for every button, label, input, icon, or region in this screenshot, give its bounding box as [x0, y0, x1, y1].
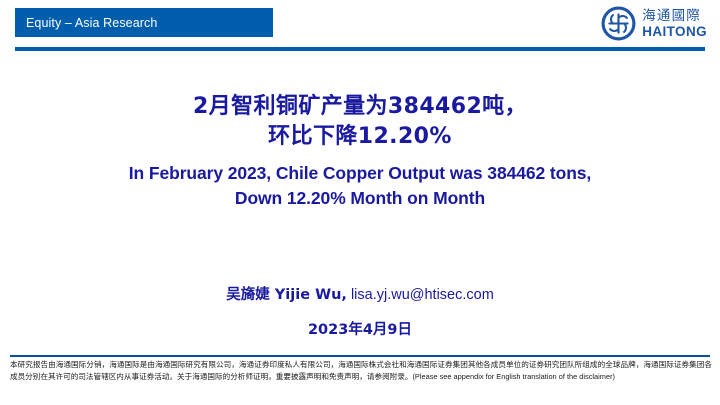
- haitong-emblem-icon: [601, 6, 636, 41]
- logo-wordmark-en: HAITONG: [642, 25, 707, 39]
- title-english: In February 2023, Chile Copper Output wa…: [0, 161, 720, 212]
- disclaimer-english: (Please see appendix for English transla…: [412, 372, 615, 381]
- title-chinese: 2月智利铜矿产量为384462吨， 环比下降12.20%: [0, 92, 720, 153]
- brand-logo: 海通國際 HAITONG: [601, 6, 707, 41]
- header-divider-rule: [15, 47, 705, 51]
- title-english-line-1: In February 2023, Chile Copper Output wa…: [0, 161, 720, 186]
- report-cover-slide: Equity – Asia Research 海通國際 HAITONG: [0, 0, 720, 405]
- header-banner-label: Equity – Asia Research: [26, 16, 157, 30]
- author-line: 吴旖婕 Yijie Wu, lisa.yj.wu@htisec.com: [0, 283, 720, 304]
- title-chinese-line-2: 环比下降12.20%: [0, 122, 720, 152]
- logo-wordmark: 海通國際 HAITONG: [642, 9, 707, 38]
- title-chinese-line-1: 2月智利铜矿产量为384462吨，: [0, 92, 720, 122]
- author-name-en: Yijie Wu,: [275, 287, 347, 303]
- title-zone: 2月智利铜矿产量为384462吨， 环比下降12.20% In February…: [0, 92, 720, 211]
- logo-wordmark-cn: 海通國際: [642, 9, 707, 23]
- footer-divider-rule: [10, 355, 710, 357]
- publication-date: 2023年4月9日: [0, 318, 720, 339]
- author-name-cn: 吴旖婕: [226, 287, 270, 303]
- header-banner: Equity – Asia Research: [15, 8, 273, 37]
- disclaimer-block: 本研究报告由海通国际分销，海通国际是由海通国际研究有限公司，海通证券印度私人有限…: [10, 359, 712, 382]
- title-english-line-2: Down 12.20% Month on Month: [0, 186, 720, 211]
- author-email[interactable]: lisa.yj.wu@htisec.com: [351, 287, 494, 303]
